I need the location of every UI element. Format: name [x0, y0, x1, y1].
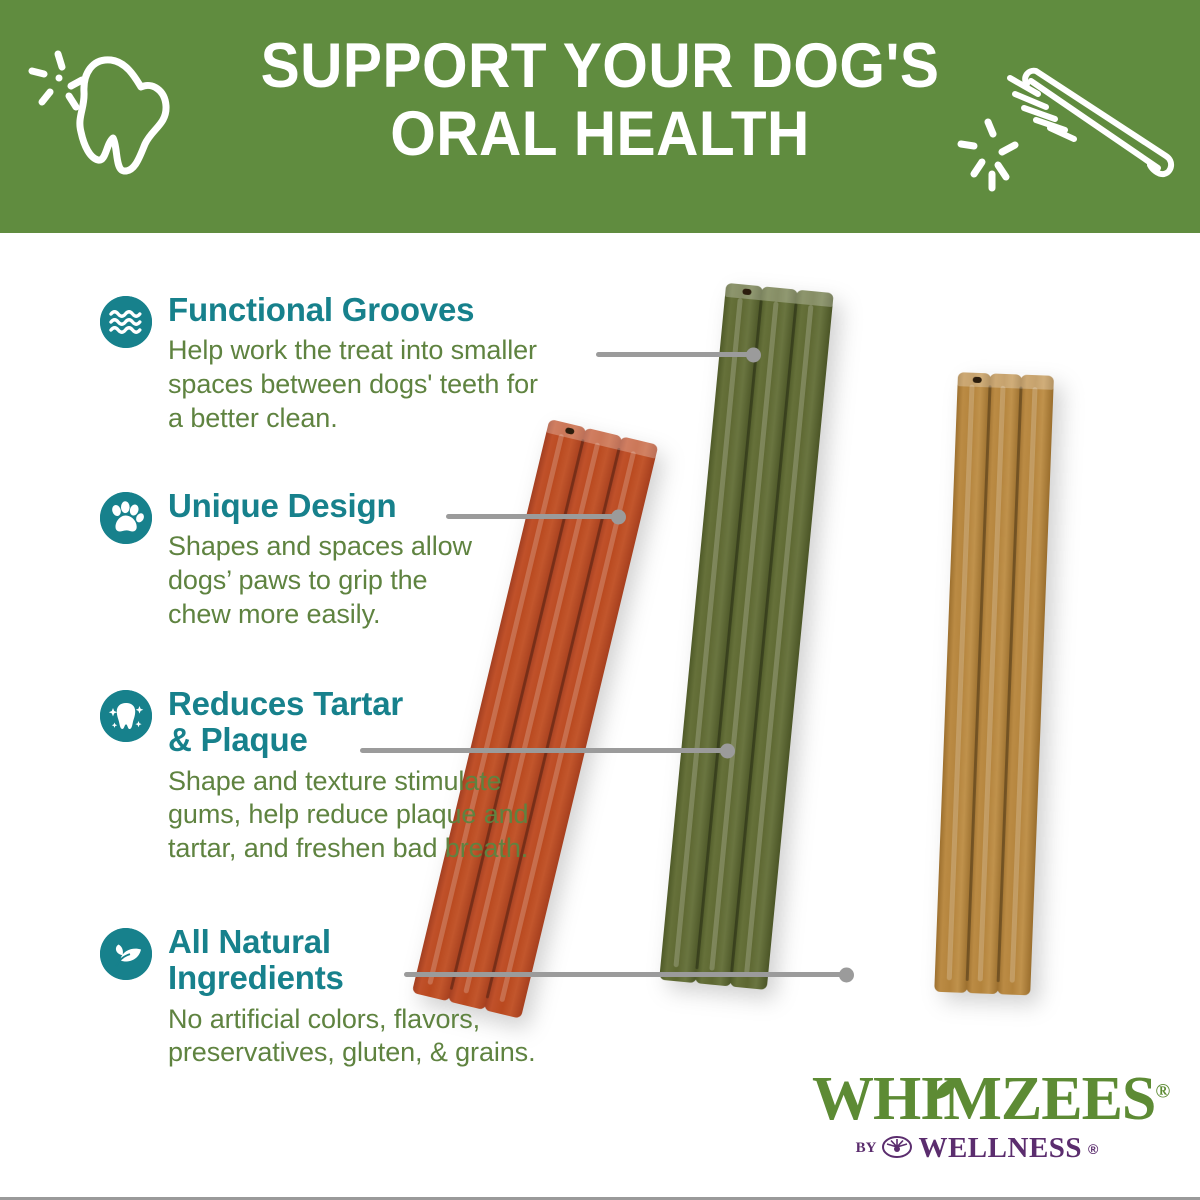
green-dental-stick: [659, 283, 834, 990]
brand-logo: WHIMZEES® BY WELLNESS®: [812, 1068, 1142, 1165]
leader-dot: [746, 347, 761, 362]
leader-dot: [720, 743, 735, 758]
infographic-page: SUPPORT YOUR DOG'S ORAL HEALTH: [0, 0, 1200, 1200]
feature-title: All Natural Ingredients: [168, 924, 638, 997]
feature-text-block: Functional Grooves Help work the treat i…: [168, 292, 638, 436]
feature-body: Shape and texture stimulate gums, help r…: [168, 765, 638, 866]
stick-speck: [973, 377, 982, 383]
logo-parent-brand: WELLNESS: [918, 1132, 1082, 1165]
logo-parent-brand-row: BY WELLNESS®: [812, 1132, 1142, 1165]
feature-body: Help work the treat into smaller spaces …: [168, 334, 638, 435]
feature-text-block: All Natural Ingredients No artificial co…: [168, 924, 638, 1070]
wellness-seal-icon: [882, 1134, 912, 1163]
logo-leaf-icon: [930, 1052, 960, 1114]
feature-title: Reduces Tartar & Plaque: [168, 686, 638, 759]
feature-title: Unique Design: [168, 488, 638, 524]
logo-wordmark: WHIMZEES: [812, 1065, 1155, 1133]
feature-text-block: Reduces Tartar & Plaque Shape and textur…: [168, 686, 638, 866]
tan-dental-stick: [934, 372, 1054, 995]
waves-grooves-icon: [100, 296, 152, 348]
feature-body: No artificial colors, flavors, preservat…: [168, 1003, 638, 1071]
logo-parent-registered-mark: ®: [1088, 1141, 1098, 1157]
logo-by-label: BY: [856, 1140, 877, 1157]
toothbrush-sparkle-icon: [952, 38, 1182, 208]
sparkling-tooth-icon: [100, 690, 152, 742]
logo-wordmark-row: WHIMZEES®: [812, 1068, 1169, 1130]
leaf-natural-icon: [100, 928, 152, 980]
header-banner: SUPPORT YOUR DOG'S ORAL HEALTH: [0, 0, 1200, 233]
paw-print-icon: [100, 492, 152, 544]
logo-registered-mark: ®: [1155, 1080, 1169, 1102]
leader-dot: [839, 967, 854, 982]
feature-body: Shapes and spaces allow dogs’ paws to gr…: [168, 530, 638, 631]
feature-title: Functional Grooves: [168, 292, 638, 328]
feature-text-block: Unique Design Shapes and spaces allow do…: [168, 488, 638, 632]
